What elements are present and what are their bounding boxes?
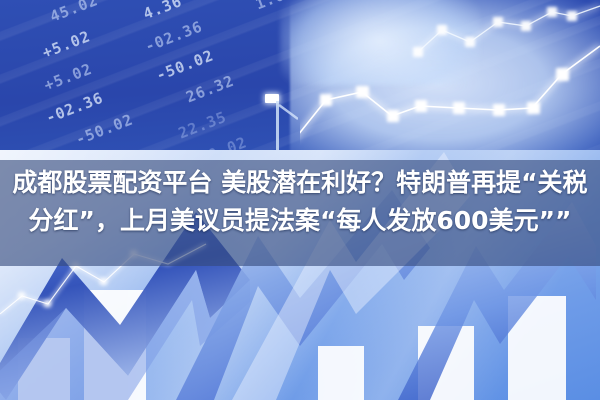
news-cover-image: -02.36-08.3521.05 -08.02-11.2545.02 2.26… (0, 0, 600, 400)
glow-line-upper (413, 6, 600, 57)
headline-container: 成都股票配资平台 美股潜在利好？特朗普再提“关税分红”，上月美议员提法案“每人发… (0, 160, 600, 266)
glow-line-lower (300, 46, 600, 140)
headline-text: 成都股票配资平台 美股潜在利好？特朗普再提“关税分红”，上月美议员提法案“每人发… (0, 160, 600, 240)
glowing-line-chart (300, 0, 600, 175)
